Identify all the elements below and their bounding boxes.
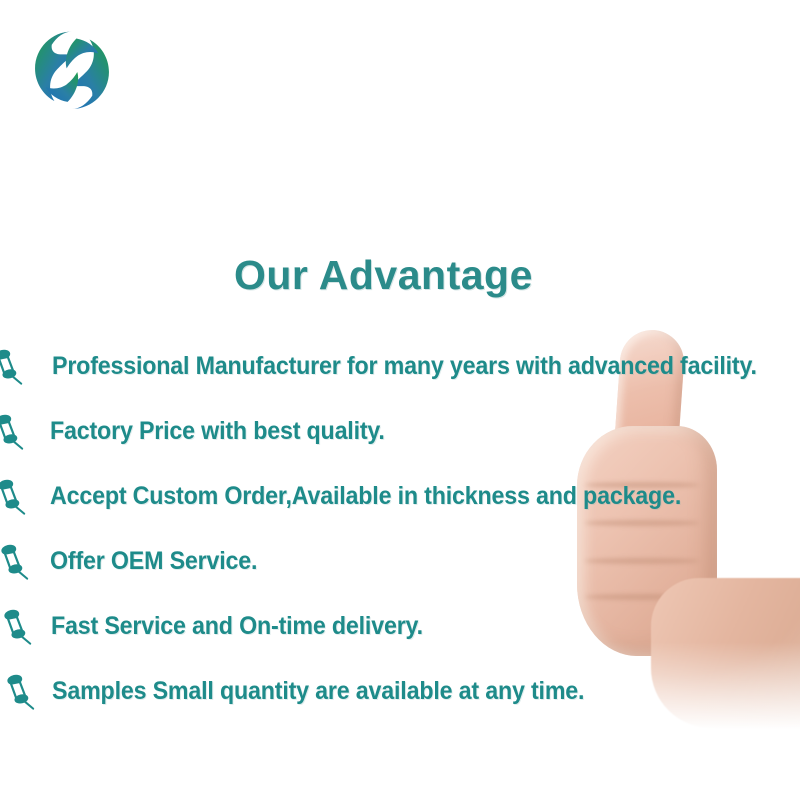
- pushpin-icon: [0, 542, 31, 582]
- list-item: Accept Custom Order,Available in thickne…: [0, 464, 800, 529]
- advantage-banner: Our Advantage Professional Manufacturer …: [0, 0, 800, 800]
- pushpin-icon: [3, 672, 37, 712]
- list-item-label: Samples Small quantity are available at …: [52, 677, 584, 706]
- page-title: Our Advantage: [234, 252, 533, 299]
- advantage-list: Professional Manufacturer for many years…: [0, 334, 800, 724]
- list-item-label: Accept Custom Order,Available in thickne…: [50, 482, 681, 511]
- list-item: Professional Manufacturer for many years…: [0, 334, 800, 399]
- pushpin-icon: [0, 412, 26, 452]
- company-logo: [28, 28, 116, 116]
- list-item-label: Offer OEM Service.: [50, 547, 257, 576]
- list-item: Factory Price with best quality.: [0, 399, 800, 464]
- list-item: Samples Small quantity are available at …: [0, 659, 800, 724]
- list-item-label: Factory Price with best quality.: [50, 417, 385, 446]
- list-item-label: Fast Service and On-time delivery.: [51, 612, 423, 641]
- pushpin-icon: [0, 477, 28, 517]
- list-item-label: Professional Manufacturer for many years…: [52, 352, 757, 381]
- list-item: Offer OEM Service.: [0, 529, 800, 594]
- pushpin-icon: [0, 347, 25, 387]
- pushpin-icon: [0, 607, 34, 647]
- list-item: Fast Service and On-time delivery.: [0, 594, 800, 659]
